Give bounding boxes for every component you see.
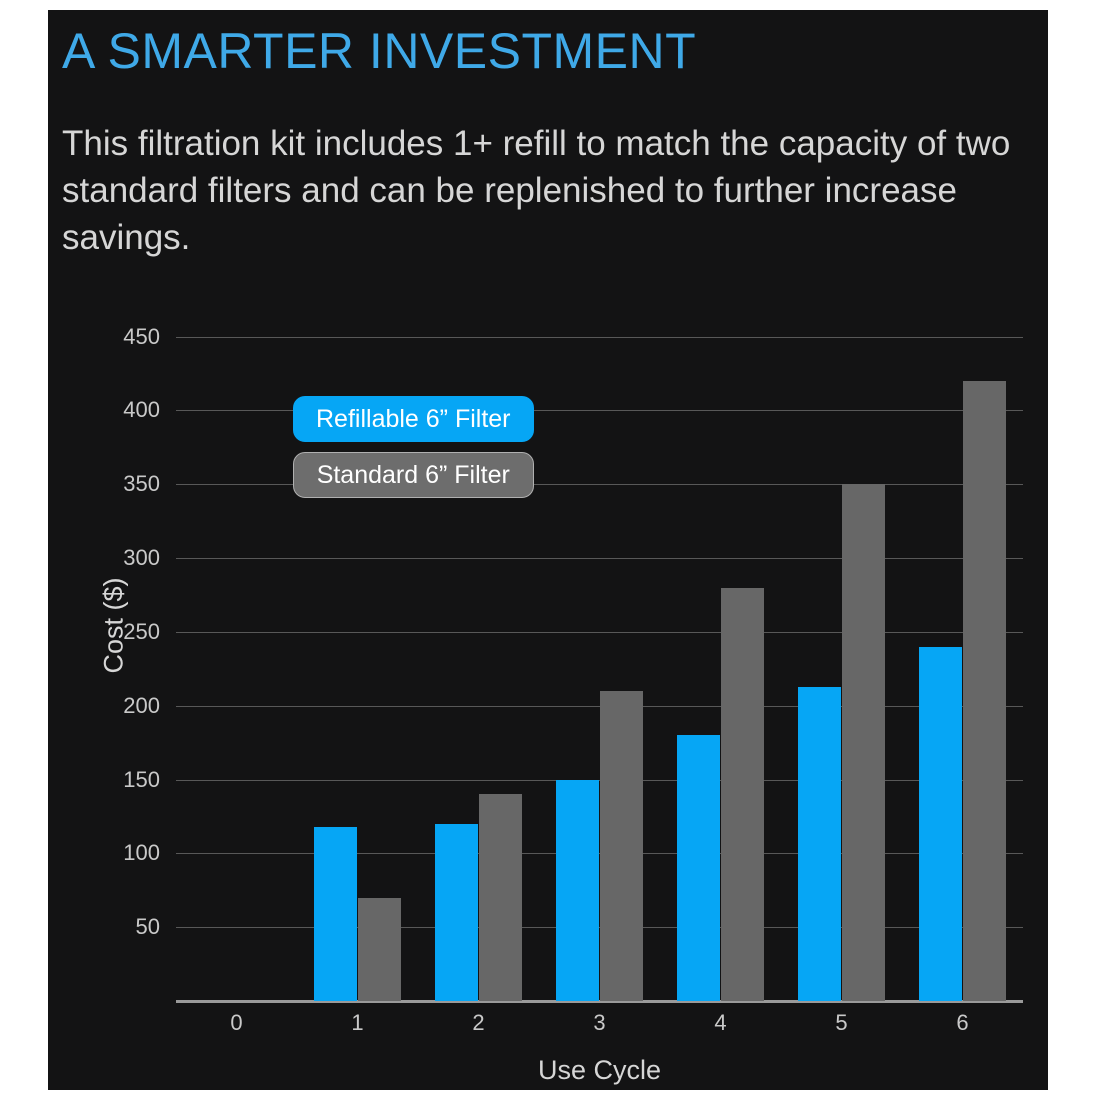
y-tick-label: 400 — [48, 397, 160, 423]
bar-standard-cycle-5 — [842, 484, 886, 1001]
gridline — [176, 337, 1023, 338]
bar-standard-cycle-1 — [358, 898, 402, 1001]
x-tick-label: 1 — [351, 1010, 363, 1036]
x-tick-label: 6 — [956, 1010, 968, 1036]
x-tick-label: 2 — [472, 1010, 484, 1036]
page-subtitle: This filtration kit includes 1+ refill t… — [62, 120, 1047, 261]
y-tick-label: 50 — [48, 914, 160, 940]
cost-comparison-bar-chart: Cost ($) 50100150200250300350400450 0123… — [48, 280, 1048, 1090]
x-tick-label: 0 — [230, 1010, 242, 1036]
x-tick-label: 5 — [835, 1010, 847, 1036]
bar-refillable-cycle-4 — [677, 735, 721, 1001]
x-tick-label: 3 — [593, 1010, 605, 1036]
bar-standard-cycle-4 — [721, 588, 765, 1001]
y-tick-label: 450 — [48, 324, 160, 350]
y-tick-label: 150 — [48, 767, 160, 793]
x-axis-title: Use Cycle — [176, 1055, 1023, 1086]
gridline — [176, 558, 1023, 559]
screenshot-root: A SMARTER INVESTMENT This filtration kit… — [0, 0, 1100, 1100]
legend-item-standard[interactable]: Standard 6” Filter — [293, 452, 534, 498]
info-panel: A SMARTER INVESTMENT This filtration kit… — [48, 10, 1048, 1090]
bar-standard-cycle-3 — [600, 691, 644, 1001]
bar-refillable-cycle-5 — [798, 687, 842, 1002]
y-tick-label: 350 — [48, 471, 160, 497]
bar-refillable-cycle-2 — [435, 824, 479, 1001]
bar-refillable-cycle-3 — [556, 780, 600, 1001]
y-tick-label: 300 — [48, 545, 160, 571]
x-tick-label: 4 — [714, 1010, 726, 1036]
y-axis-tick-labels: 50100150200250300350400450 — [48, 307, 160, 1001]
chart-legend: Refillable 6” FilterStandard 6” Filter — [293, 396, 534, 498]
legend-item-refillable[interactable]: Refillable 6” Filter — [293, 396, 534, 442]
y-tick-label: 100 — [48, 840, 160, 866]
y-tick-label: 200 — [48, 693, 160, 719]
bar-refillable-cycle-1 — [314, 827, 358, 1001]
y-tick-label: 250 — [48, 619, 160, 645]
gridline — [176, 632, 1023, 633]
bar-standard-cycle-2 — [479, 794, 523, 1001]
bar-standard-cycle-6 — [963, 381, 1007, 1001]
page-title: A SMARTER INVESTMENT — [62, 20, 696, 82]
x-axis-tick-labels: 0123456 — [176, 1010, 1023, 1046]
bar-refillable-cycle-6 — [919, 647, 963, 1001]
